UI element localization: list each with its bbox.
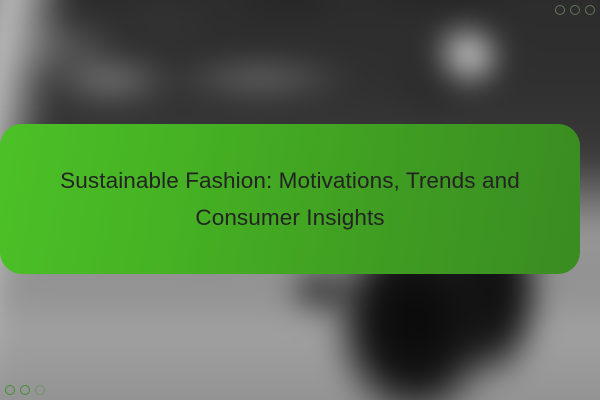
window-dot-1-icon[interactable] xyxy=(555,5,565,15)
title-banner: Sustainable Fashion: Motivations, Trends… xyxy=(0,124,580,274)
window-dot-3-icon[interactable] xyxy=(585,5,595,15)
presentation-slide: Sustainable Fashion: Motivations, Trends… xyxy=(0,0,600,400)
page-dot-3-icon[interactable] xyxy=(35,385,45,395)
window-dot-2-icon[interactable] xyxy=(570,5,580,15)
title-line-1: Sustainable Fashion: Motivations, Trends… xyxy=(46,162,534,199)
page-title: Sustainable Fashion: Motivations, Trends… xyxy=(46,162,534,236)
page-dot-1-icon[interactable] xyxy=(5,385,15,395)
title-line-2: Consumer Insights xyxy=(46,199,534,236)
window-controls-dots[interactable] xyxy=(555,5,595,15)
page-dot-2-icon[interactable] xyxy=(20,385,30,395)
page-indicator-dots[interactable] xyxy=(5,385,45,395)
